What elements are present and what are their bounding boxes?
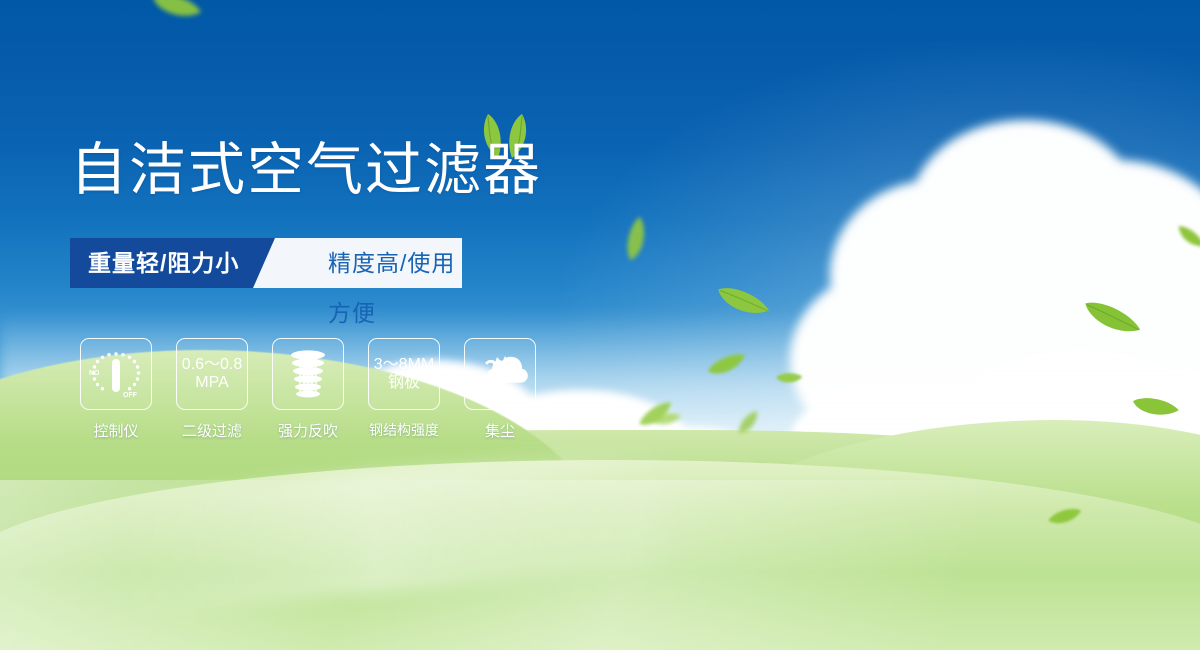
feature-item-pulse-jet[interactable]: 强力反吹	[272, 338, 344, 441]
pressure-text-icon: 0.6～0.8 MPA	[176, 338, 248, 410]
pressure-line-1: 0.6～0.8	[182, 356, 243, 374]
svg-text:OFF: OFF	[123, 392, 138, 399]
feature-label: 强力反吹	[278, 420, 338, 441]
steel-line-2: 钢板	[374, 374, 434, 392]
feature-label: 控制仪	[93, 420, 138, 441]
product-banner: 自洁式空气过滤器 重量轻/阻力小 精度高/使用方便	[0, 0, 1200, 650]
feature-item-dust-collection[interactable]: Air 集尘	[464, 338, 536, 441]
subtitle-right-text: 精度高/使用方便	[328, 238, 462, 288]
subtitle-left-text: 重量轻/阻力小	[88, 238, 239, 288]
feature-item-steel-strength[interactable]: 3～8MM 钢板 钢结构强度	[368, 338, 440, 441]
cloud-air-icon: Air	[464, 338, 536, 410]
feature-label: 钢结构强度	[369, 420, 439, 440]
air-label: Air	[491, 388, 505, 400]
page-title: 自洁式空气过滤器	[70, 142, 542, 199]
feature-label: 二级过滤	[182, 420, 242, 441]
filter-cartridge-icon	[272, 338, 344, 410]
feature-label: 集尘	[485, 420, 515, 441]
feature-item-control-panel[interactable]: NO OFF 控制仪	[80, 338, 152, 441]
steel-text: 3～8MM 钢板	[374, 356, 434, 392]
pressure-text: 0.6～0.8 MPA	[182, 356, 243, 392]
feature-item-two-stage-filter[interactable]: 0.6～0.8 MPA 二级过滤	[176, 338, 248, 441]
svg-text:NO: NO	[89, 370, 100, 377]
grass-sheen	[0, 480, 1200, 650]
feature-list: NO OFF 控制仪 0.6～0.8 MPA 二级过滤	[80, 338, 536, 441]
subtitle-bar: 重量轻/阻力小 精度高/使用方便	[70, 238, 462, 288]
pressure-line-2: MPA	[182, 374, 243, 392]
steel-line-1: 3～8MM	[374, 356, 434, 374]
gauge-icon: NO OFF	[80, 338, 152, 410]
steel-plate-text-icon: 3～8MM 钢板	[368, 338, 440, 410]
